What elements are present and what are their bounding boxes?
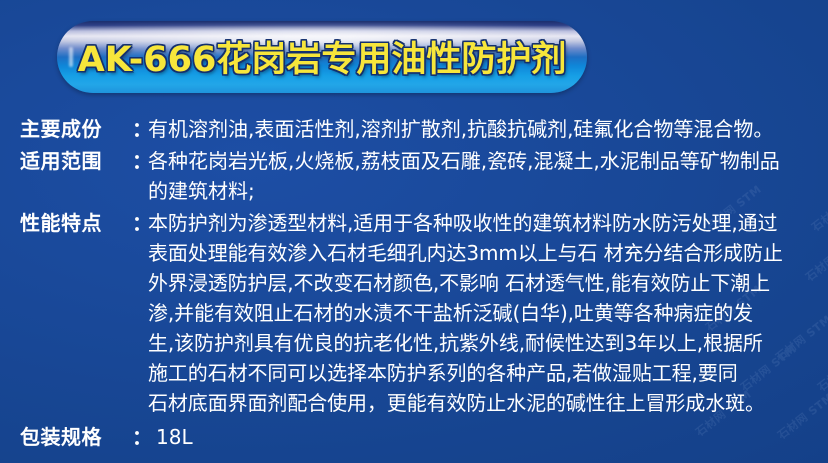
spec-colon-packing-spec: ： <box>132 422 148 452</box>
spec-line: 各种花岗岩光板,火烧板,荔枝面及石雕,瓷砖,混凝土,水泥制品等矿物制品 <box>148 146 820 176</box>
spec-row-main-ingredients: 主要成份：有机溶剂油,表面活性剂,溶剂扩散剂,抗酸抗碱剂,硅氟化合物等混合物。 <box>20 114 820 144</box>
spec-line: 渗,并能有效阻止石材的水渍不干盐析泛碱(白华),吐黄等各种病症的发 <box>148 298 820 328</box>
spec-line: 外界浸透防护层,不改变石材颜色,不影响 石材透气性,能有效防止下潮上 <box>148 268 820 298</box>
spec-line: 18L <box>156 422 820 452</box>
spec-line: 本防护剂为渗透型材料,适用于各种吸收性的建筑材料防水防污处理,通过 <box>148 208 820 238</box>
spec-colon-performance-features: ： <box>132 208 148 238</box>
spec-list: 主要成份：有机溶剂油,表面活性剂,溶剂扩散剂,抗酸抗碱剂,硅氟化合物等混合物。适… <box>20 114 820 454</box>
product-spec-poster: 石材网 STM石材网 STM石材网 STM石材网 STM石材网 STM石材网 S… <box>0 0 828 463</box>
spec-label-performance-features: 性能特点 <box>20 208 132 238</box>
spec-row-performance-features: 性能特点：本防护剂为渗透型材料,适用于各种吸收性的建筑材料防水防污处理,通过表面… <box>20 208 820 418</box>
spec-colon-application-scope: ： <box>132 146 148 176</box>
spec-line: 生,该防护剂具有优良的抗老化性,抗紫外线,耐候性达到3年以上,根据所 <box>148 328 820 358</box>
spec-row-application-scope: 适用范围：各种花岗岩光板,火烧板,荔枝面及石雕,瓷砖,混凝土,水泥制品等矿物制品… <box>20 146 820 206</box>
spec-line: 石材底面界面剂配合使用，更能有效防止水泥的碱性往上冒形成水斑。 <box>148 388 820 418</box>
spec-line: 有机溶剂油,表面活性剂,溶剂扩散剂,抗酸抗碱剂,硅氟化合物等混合物。 <box>148 114 820 144</box>
spec-line: 施工的石材不同可以选择本防护系列的各种产品,若做湿贴工程,要同 <box>148 358 820 388</box>
product-title: AK-666花岗岩专用油性防护剂 <box>57 21 587 93</box>
spec-line: 的建筑材料; <box>148 176 820 206</box>
spec-label-main-ingredients: 主要成份 <box>20 114 132 144</box>
spec-label-application-scope: 适用范围 <box>20 146 132 176</box>
spec-value-performance-features: 本防护剂为渗透型材料,适用于各种吸收性的建筑材料防水防污处理,通过表面处理能有效… <box>148 208 820 418</box>
spec-label-packing-spec: 包装规格 <box>20 422 132 452</box>
spec-line: 表面处理能有效渗入石材毛细孔内达3mm以上与石 材充分结合形成防止 <box>148 238 820 268</box>
spec-colon-main-ingredients: ： <box>132 114 148 144</box>
title-banner: AK-666花岗岩专用油性防护剂 <box>57 21 587 93</box>
spec-value-main-ingredients: 有机溶剂油,表面活性剂,溶剂扩散剂,抗酸抗碱剂,硅氟化合物等混合物。 <box>148 114 820 144</box>
spec-value-application-scope: 各种花岗岩光板,火烧板,荔枝面及石雕,瓷砖,混凝土,水泥制品等矿物制品的建筑材料… <box>148 146 820 206</box>
spec-value-packing-spec: 18L <box>148 422 820 452</box>
spec-row-packing-spec: 包装规格：18L <box>20 422 820 452</box>
